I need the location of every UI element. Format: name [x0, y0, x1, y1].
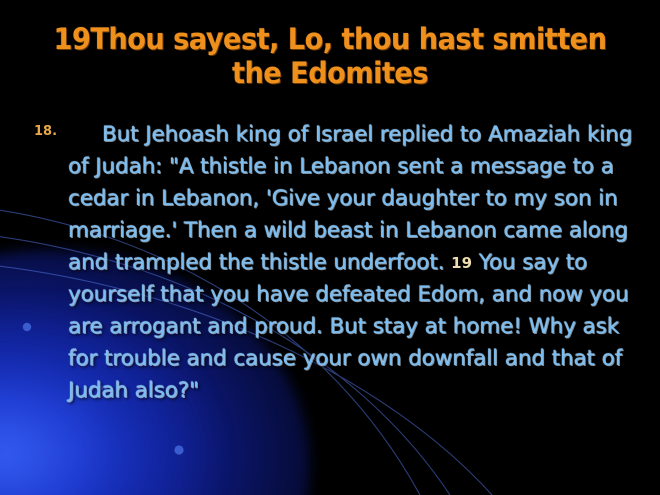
presentation-slide: 19Thou sayest, Lo, thou hast smitten the…: [0, 0, 660, 495]
slide-title-text: 19Thou sayest, Lo, thou hast smitten the…: [40, 22, 619, 90]
list-marker: 18.: [34, 119, 68, 139]
slide-body: 18. But Jehoash king of Israel replied t…: [34, 119, 634, 407]
body-paragraph: But Jehoash king of Israel replied to Am…: [68, 119, 634, 407]
verse-number: 19: [451, 254, 472, 272]
slide-title: 19Thou sayest, Lo, thou hast smitten the…: [22, 22, 638, 90]
